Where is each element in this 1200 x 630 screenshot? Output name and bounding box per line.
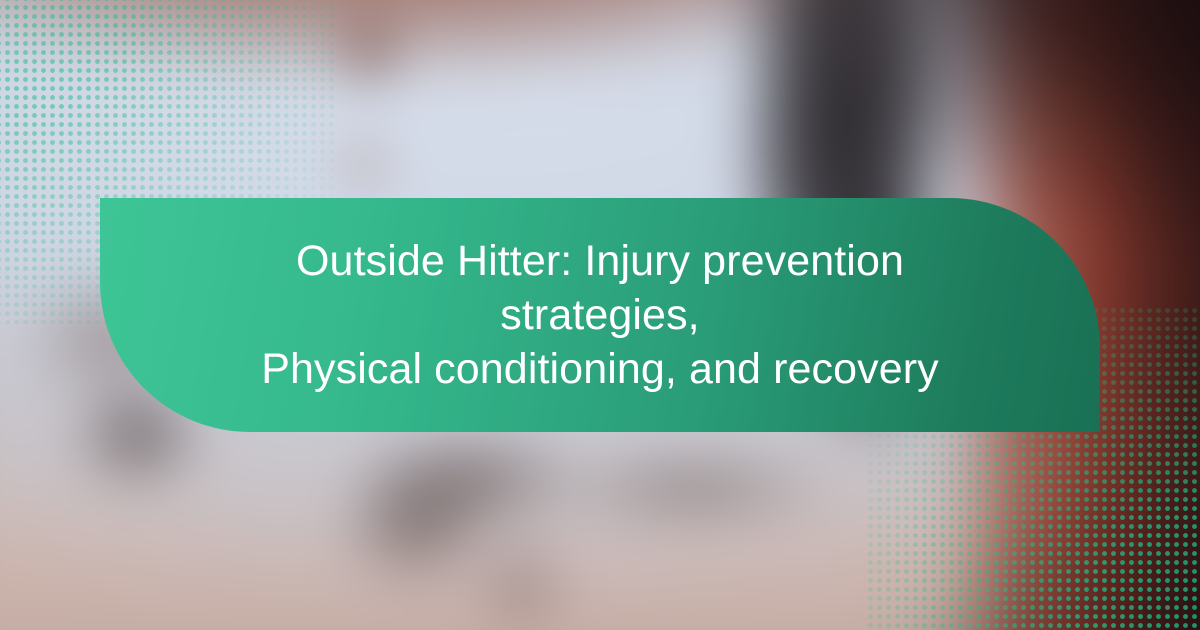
title-banner: Outside Hitter: Injury prevention strate… bbox=[100, 198, 1100, 432]
page-title: Outside Hitter: Injury prevention strate… bbox=[220, 234, 980, 396]
share-card: Outside Hitter: Injury prevention strate… bbox=[0, 0, 1200, 630]
